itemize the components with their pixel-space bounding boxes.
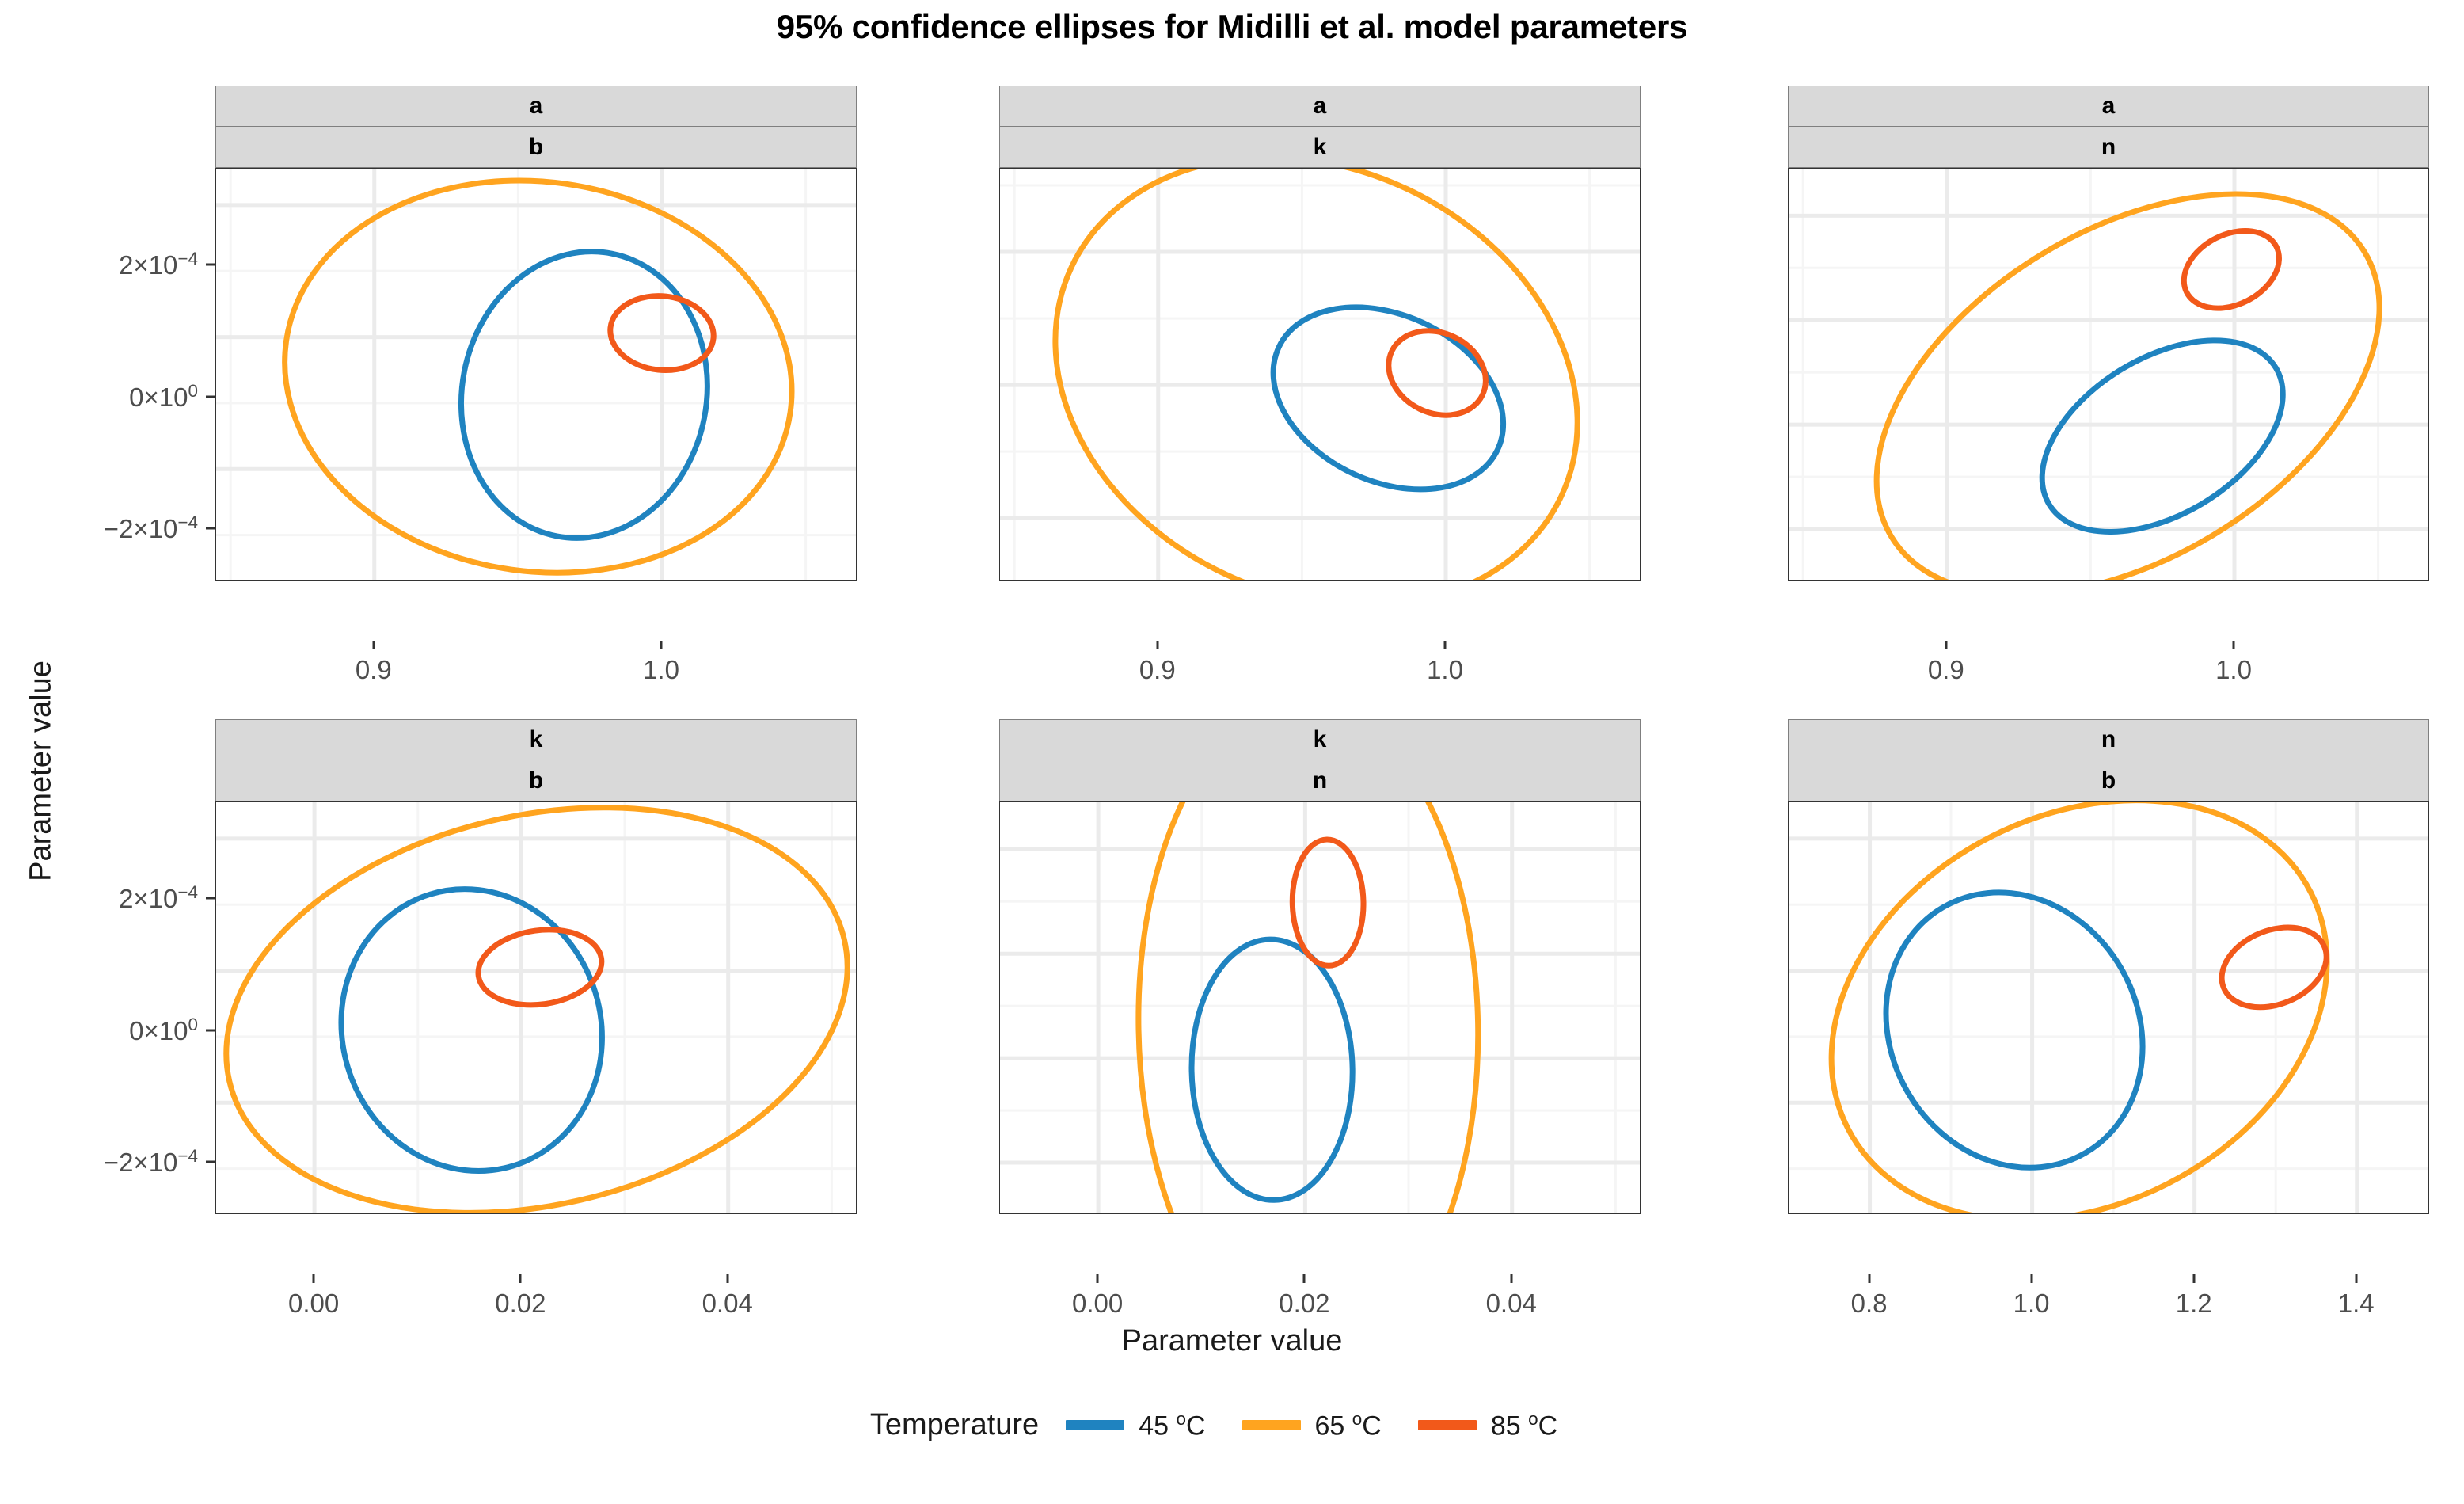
legend-title: Temperature [870, 1408, 1039, 1442]
facet-panel-a-n: an [1788, 86, 2429, 581]
x-tick-mark [1097, 1274, 1099, 1283]
facet-panel-k-b: kb [215, 719, 857, 1214]
plot-area-k-b [215, 801, 857, 1214]
x-tick-mark [1510, 1274, 1512, 1283]
facet-strip-top-k-b: k [215, 719, 857, 760]
plot-area-a-b [215, 168, 857, 581]
y-tick-mark [206, 527, 215, 530]
legend-key-swatch [1418, 1420, 1477, 1430]
x-tick-label: 1.0 [2215, 655, 2252, 685]
legend-items: 45 oC65 oC85 oC [1066, 1409, 1594, 1441]
x-tick-mark [1868, 1274, 1870, 1283]
facet-panel-a-b: ab [215, 86, 857, 581]
y-tick-mark [206, 897, 215, 899]
legend-item-1[interactable]: 45 oC [1066, 1409, 1205, 1441]
legend-item-label: 85 oC [1491, 1409, 1557, 1441]
confidence-ellipse [1375, 315, 1500, 431]
y-tick-label: −2×10−4 [0, 1146, 198, 1178]
plot-area-n-b [1788, 801, 2429, 1214]
y-tick-label: 2×10−4 [0, 249, 198, 280]
chart-root: 95% confidence ellipses for Midilli et a… [0, 0, 2464, 1504]
x-tick-label: 0.9 [1928, 655, 1964, 685]
facet-strip-top-a-k: a [999, 86, 1641, 127]
x-tick-label: 0.04 [702, 1289, 753, 1319]
confidence-ellipse [216, 802, 857, 1214]
plot-area-a-k [999, 168, 1641, 581]
x-tick-label: 1.2 [2176, 1289, 2212, 1319]
confidence-ellipse [1836, 845, 2192, 1214]
legend-key-swatch [1242, 1420, 1301, 1430]
x-tick-mark [726, 1274, 728, 1283]
facet-panel-n-b: nb [1788, 719, 2429, 1214]
facet-strip-bottom-k-b: b [215, 760, 857, 801]
x-tick-label: 1.4 [2338, 1289, 2375, 1319]
y-tick-mark [206, 1161, 215, 1163]
x-tick-label: 0.8 [1851, 1289, 1888, 1319]
x-tick-mark [1444, 641, 1447, 649]
facet-panel-k-n: kn [999, 719, 1641, 1214]
confidence-ellipse [1244, 272, 1533, 524]
y-tick-mark [206, 1029, 215, 1031]
confidence-ellipse [2171, 215, 2292, 323]
y-tick-label: −2×10−4 [0, 512, 198, 544]
y-tick-label: 0×100 [0, 1015, 198, 1046]
confidence-ellipse [306, 856, 637, 1203]
facet-strip-top-n-b: n [1788, 719, 2429, 760]
facet-panel-a-k: ak [999, 86, 1641, 581]
facet-strip-bottom-a-n: n [1788, 127, 2429, 168]
facet-strip-bottom-a-b: b [215, 127, 857, 168]
facet-strip-top-a-n: a [1788, 86, 2429, 127]
confidence-ellipse [259, 169, 817, 581]
y-tick-label: 0×100 [0, 381, 198, 413]
x-tick-label: 0.02 [495, 1289, 546, 1319]
x-tick-mark [372, 641, 375, 649]
legend-key-swatch [1066, 1420, 1124, 1430]
facet-strip-top-k-n: k [999, 719, 1641, 760]
x-tick-mark [2192, 1274, 2195, 1283]
y-tick-mark [206, 263, 215, 265]
facet-strip-bottom-n-b: b [1788, 760, 2429, 801]
x-tick-label: 0.9 [356, 655, 392, 685]
x-axis-title: Parameter value [0, 1324, 2464, 1358]
legend-item-2[interactable]: 65 oC [1242, 1409, 1382, 1441]
plot-area-a-n [1788, 168, 2429, 581]
x-tick-mark [1303, 1274, 1306, 1283]
confidence-ellipse [437, 230, 732, 560]
x-tick-mark [660, 641, 663, 649]
x-tick-mark [1945, 641, 1947, 649]
x-tick-label: 1.0 [2013, 1289, 2050, 1319]
x-tick-mark [519, 1274, 522, 1283]
legend-item-label: 45 oC [1139, 1409, 1205, 1441]
x-tick-label: 1.0 [643, 655, 679, 685]
x-tick-mark [1156, 641, 1158, 649]
legend-item-3[interactable]: 85 oC [1418, 1409, 1557, 1441]
plot-area-k-n [999, 801, 1641, 1214]
legend: Temperature 45 oC65 oC85 oC [0, 1408, 2464, 1442]
confidence-ellipse [1133, 802, 1484, 1214]
x-tick-label: 0.00 [288, 1289, 339, 1319]
x-tick-mark [2030, 1274, 2032, 1283]
facet-strip-bottom-k-n: n [999, 760, 1641, 801]
x-tick-label: 0.02 [1279, 1289, 1329, 1319]
page-title: 95% confidence ellipses for Midilli et a… [0, 8, 2464, 46]
x-tick-label: 0.04 [1486, 1289, 1537, 1319]
x-tick-label: 0.9 [1139, 655, 1176, 685]
y-tick-mark [206, 395, 215, 398]
x-tick-label: 0.00 [1072, 1289, 1123, 1319]
confidence-ellipse [1789, 802, 2399, 1214]
x-tick-mark [313, 1274, 315, 1283]
x-tick-label: 1.0 [1427, 655, 1463, 685]
y-tick-label: 2×10−4 [0, 882, 198, 914]
x-tick-mark [2355, 1274, 2357, 1283]
legend-item-label: 65 oC [1315, 1409, 1382, 1441]
x-tick-mark [2233, 641, 2235, 649]
facet-strip-top-a-b: a [215, 86, 857, 127]
facet-strip-bottom-a-k: k [999, 127, 1641, 168]
